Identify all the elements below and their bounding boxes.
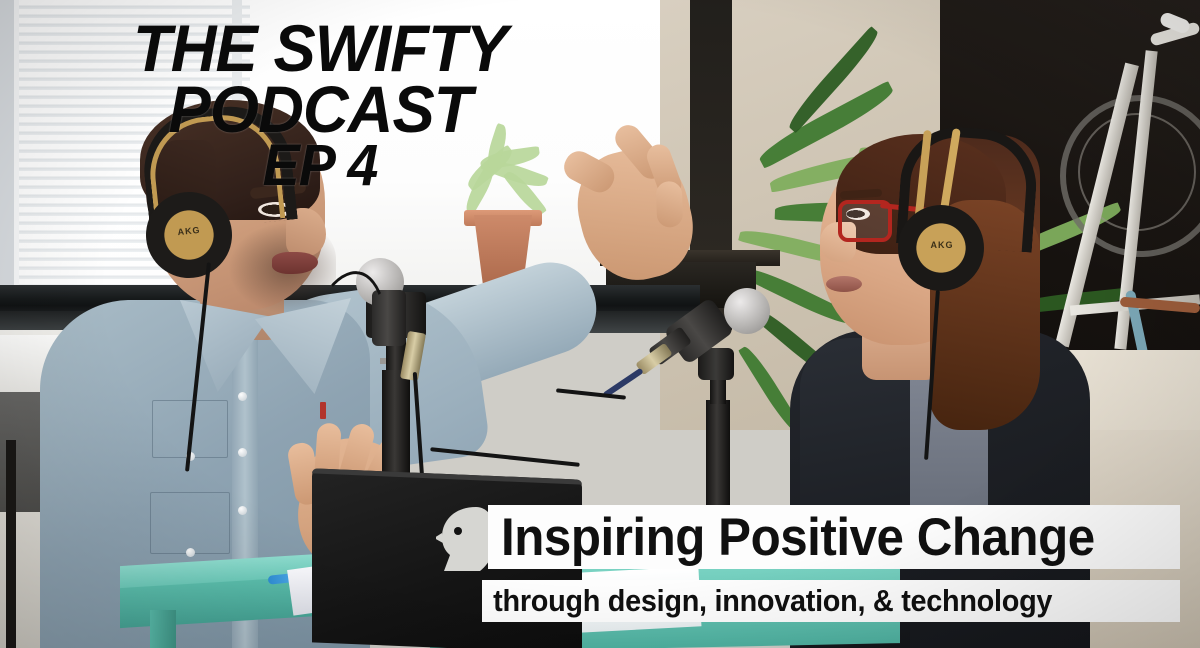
title-line-2: PODCAST: [13, 79, 627, 140]
title-line-3: EP 4: [13, 139, 627, 192]
lower-third-headline-banner: Inspiring Positive Change: [488, 505, 1180, 569]
lower-third-subhead: through design, innovation, & technology: [482, 583, 1052, 619]
dark-post-secondary: [6, 440, 16, 648]
title-line-1: THE SWIFTY: [13, 18, 627, 79]
lower-third-subhead-banner: through design, innovation, & technology: [482, 580, 1180, 622]
lower-third-headline: Inspiring Positive Change: [488, 507, 1095, 568]
video-thumbnail: AKG AKG: [0, 0, 1200, 648]
woman-lips: [826, 276, 862, 292]
akg-logo-right: AKG: [920, 240, 964, 250]
mint-table-leg: [150, 610, 176, 648]
title-card: THE SWIFTY PODCAST EP 4: [0, 18, 640, 193]
